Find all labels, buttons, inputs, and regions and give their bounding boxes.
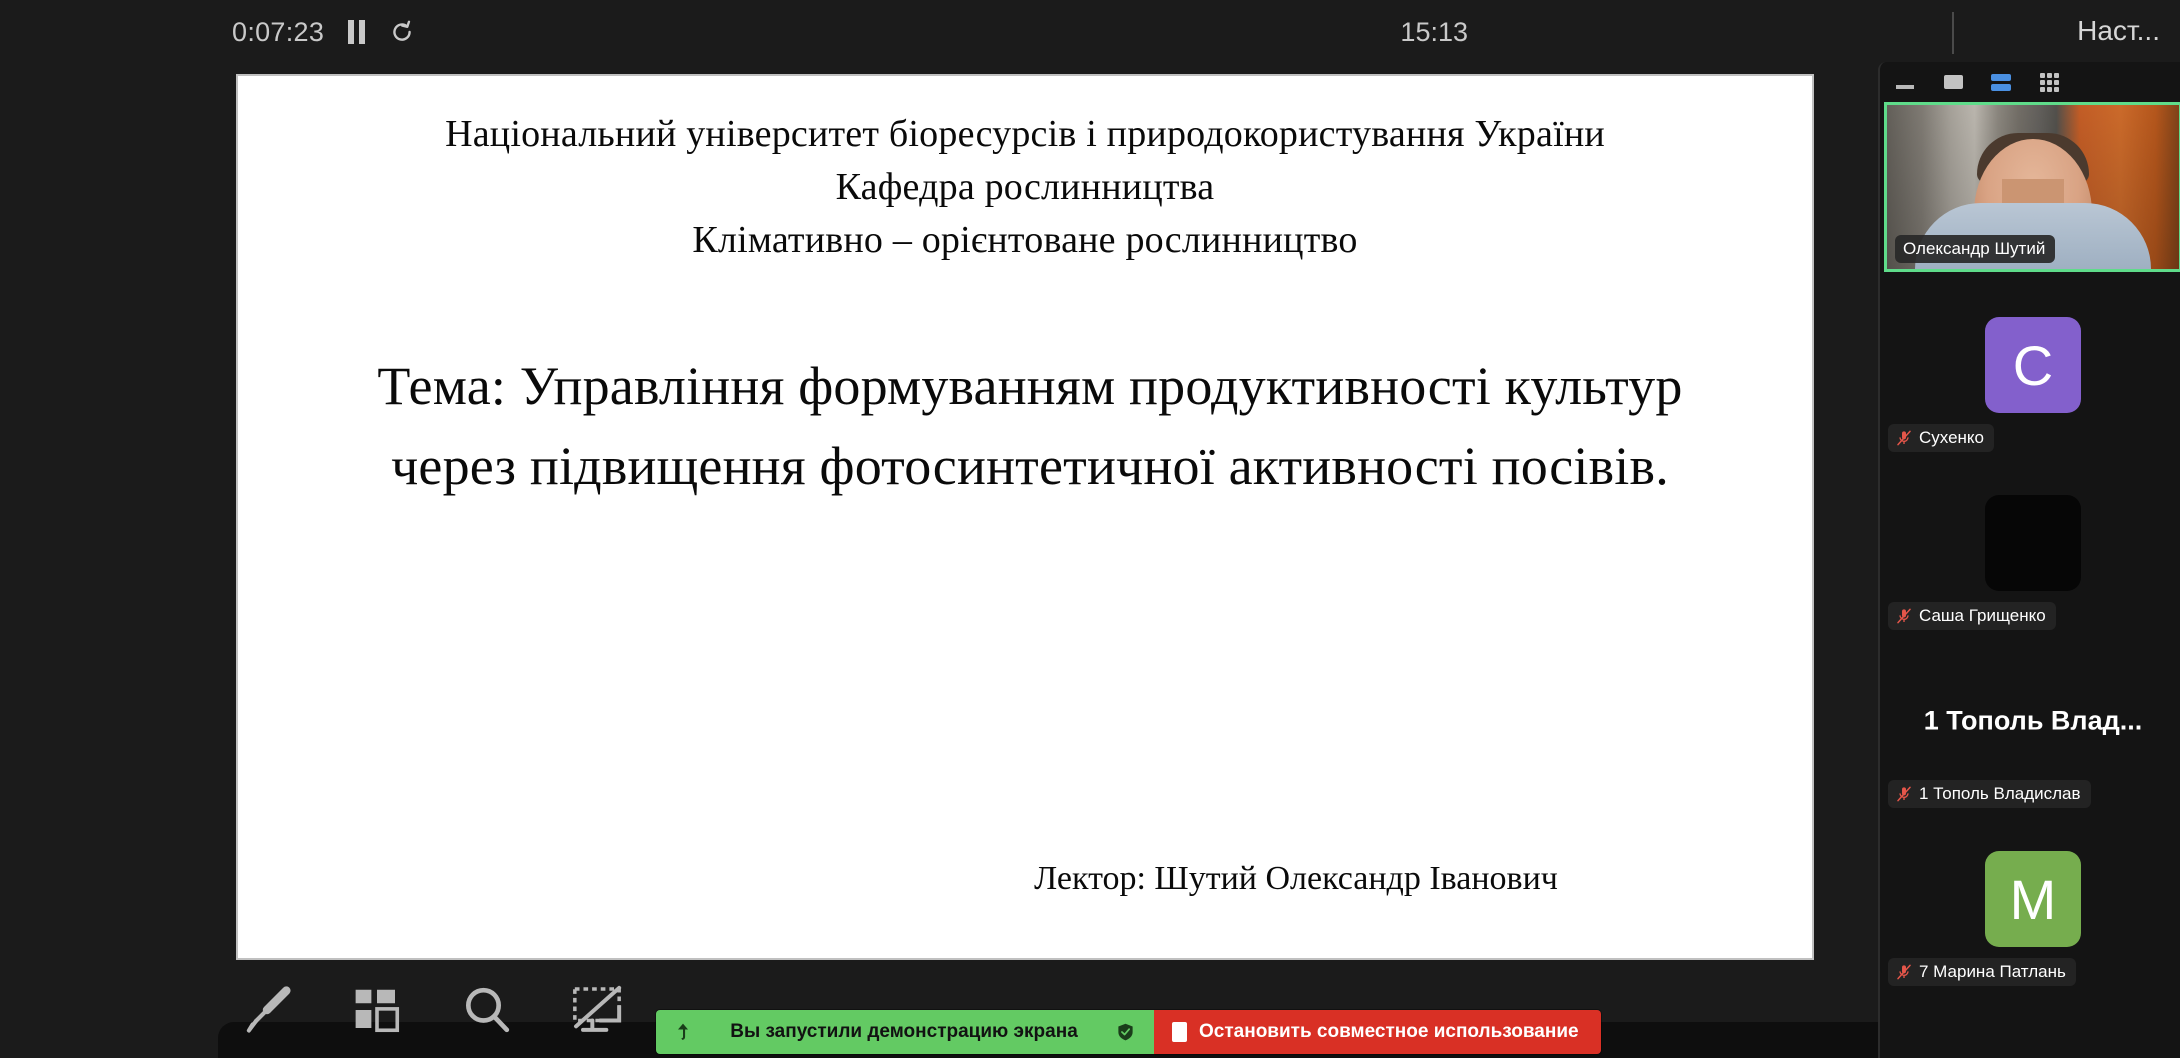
slide-lecturer: Лектор: Шутий Олександр Іванович	[976, 856, 1616, 902]
participant-name: Олександр Шутий	[1903, 239, 2045, 259]
avatar-name-placeholder: 1 Тополь Влад...	[1887, 706, 2179, 737]
toolbar-divider	[1952, 12, 1954, 54]
stop-sharing-button[interactable]: Остановить совместное использование	[1154, 1010, 1601, 1054]
avatar: С	[1985, 317, 2081, 413]
mic-muted-icon	[1896, 429, 1912, 447]
participant-name: Сухенко	[1919, 428, 1984, 448]
shield-check-icon[interactable]	[1114, 1020, 1136, 1044]
pause-icon[interactable]	[348, 19, 365, 45]
mic-muted-icon	[1896, 963, 1912, 981]
participant-name-badge: 7 Марина Патлань	[1888, 958, 2076, 986]
slide-content: Національний університет біоресурсів і п…	[238, 76, 1812, 958]
settings-button[interactable]: Наст...	[2077, 15, 2160, 47]
participant-name-badge: Саша Грищенко	[1888, 602, 2056, 630]
participant-tile[interactable]: Олександр Шутий	[1880, 102, 2180, 280]
grid-view-icon[interactable]	[2038, 72, 2060, 92]
participant-tile[interactable]: С Сухенко	[1880, 280, 2180, 458]
share-status-text: Вы запустили демонстрацию экрана	[708, 1021, 1100, 1043]
annotation-toolbar	[236, 962, 628, 1058]
participant-tile[interactable]: M 7 Марина Патлань	[1880, 814, 2180, 992]
participant-tile[interactable]: Саша Грищенко	[1880, 458, 2180, 636]
minimize-icon[interactable]	[1894, 72, 1916, 92]
top-bar: 0:07:23 15:13 Наст...	[0, 0, 2180, 64]
stop-square-icon	[1172, 1022, 1187, 1042]
avatar: M	[1985, 851, 2081, 947]
participant-name: 7 Марина Патлань	[1919, 962, 2066, 982]
slide-header-line-2: Кафедра рослинництва	[238, 161, 1812, 214]
participant-tiles: Олександр Шутий С	[1880, 102, 2180, 992]
upload-arrow-icon	[672, 1020, 694, 1044]
window-icon[interactable]	[1942, 72, 1964, 92]
participant-name-badge: 1 Тополь Владислав	[1888, 780, 2091, 808]
restart-icon[interactable]	[389, 19, 415, 45]
recording-controls: 0:07:23	[232, 17, 415, 47]
slide-header-line-3: Клімативно – орієнтоване рослинництво	[238, 214, 1812, 267]
recording-timer: 0:07:23	[232, 17, 324, 47]
participant-name: Саша Грищенко	[1919, 606, 2046, 626]
mic-muted-icon	[1896, 785, 1912, 803]
slide-header: Національний університет біоресурсів і п…	[238, 108, 1812, 267]
screen-share-notification: Вы запустили демонстрацию экрана Останов…	[656, 1010, 1601, 1054]
participants-panel: Олександр Шутий С	[1878, 62, 2180, 1058]
mic-muted-icon	[1896, 607, 1912, 625]
share-status-banner: Вы запустили демонстрацию экрана	[656, 1010, 1154, 1054]
participant-video[interactable]: Олександр Шутий	[1884, 102, 2180, 272]
participant-name: 1 Тополь Владислав	[1919, 784, 2081, 804]
participant-name-badge: Олександр Шутий	[1895, 235, 2055, 263]
slide-header-line-1: Національний університет біоресурсів і п…	[238, 108, 1812, 161]
stop-screen-icon[interactable]	[566, 979, 628, 1041]
panel-window-controls	[1880, 62, 2180, 102]
clock: 15:13	[1400, 17, 1468, 47]
magnifier-icon[interactable]	[456, 979, 518, 1041]
screen-share-viewer: 0:07:23 15:13 Наст... Національний уніве…	[0, 0, 2180, 1058]
stop-sharing-label: Остановить совместное использование	[1199, 1021, 1579, 1043]
shared-slide: Національний університет біоресурсів і п…	[236, 74, 1814, 960]
participant-name-badge: Сухенко	[1888, 424, 1994, 452]
layout-icon[interactable]	[346, 979, 408, 1041]
participant-tile[interactable]: 1 Тополь Влад... 1 Тополь Владислав	[1880, 636, 2180, 814]
slide-title: Тема: Управління формуванням продуктивно…	[370, 346, 1690, 506]
pen-icon[interactable]	[236, 979, 298, 1041]
stacked-view-icon[interactable]	[1990, 72, 2012, 92]
avatar	[1985, 495, 2081, 591]
